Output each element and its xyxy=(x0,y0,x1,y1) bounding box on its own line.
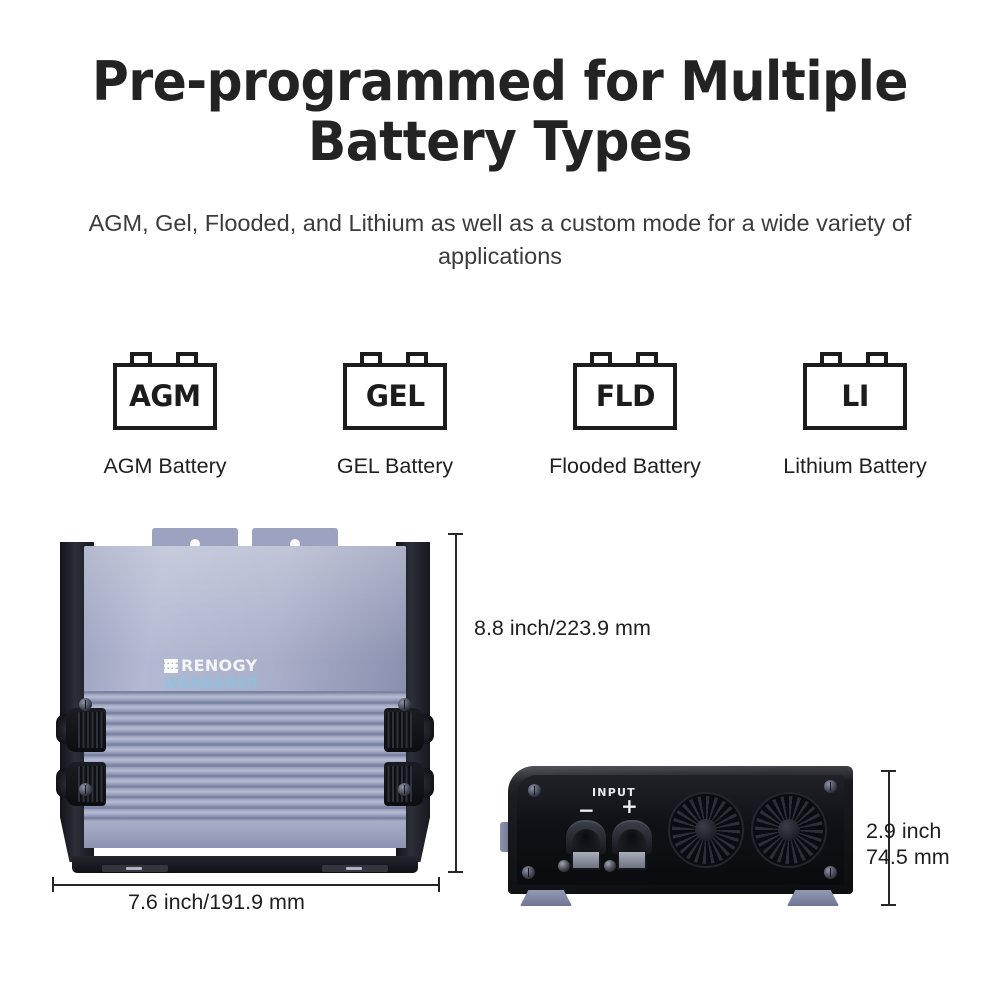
page-title: Pre-programmed for Multiple Battery Type… xyxy=(91,52,909,172)
screw-icon xyxy=(824,780,837,793)
terminal-pad xyxy=(571,850,601,870)
width-dimension-cap-left xyxy=(52,877,54,892)
width-dimension-cap-right xyxy=(438,877,440,892)
cable-gland-upper-left xyxy=(66,708,106,752)
battery-gel-icon: GEL xyxy=(343,352,447,430)
battery-type-label: GEL Battery xyxy=(337,454,453,479)
battery-type-list: AGM AGM Battery GEL GEL Battery FLD xyxy=(70,352,950,479)
battery-agm-icon: AGM xyxy=(113,352,217,430)
cable-gland-upper-right xyxy=(384,708,424,752)
product-side-view: INPUT − + xyxy=(500,766,855,906)
page-subtitle: AGM, Gel, Flooded, and Lithium as well a… xyxy=(60,207,940,274)
heatsink-fins xyxy=(84,691,406,821)
fan-hub-icon xyxy=(695,819,717,841)
negative-terminal-label: − xyxy=(578,800,595,820)
battery-icon-text: FLD xyxy=(595,382,654,411)
terminal-pad xyxy=(617,850,647,870)
faceplate-highlight xyxy=(84,546,406,661)
height-dimension-label: 8.8 inch/223.9 mm xyxy=(474,615,651,641)
negative-terminal xyxy=(566,820,606,874)
battery-type-label: Flooded Battery xyxy=(549,454,701,479)
fan-hub-icon xyxy=(778,819,800,841)
screw-icon xyxy=(79,698,92,711)
battery-li-icon: LI xyxy=(803,352,907,430)
height-dimension-cap-top xyxy=(448,533,463,535)
infographic-page: Pre-programmed for Multiple Battery Type… xyxy=(0,0,1000,1000)
positive-terminal xyxy=(612,820,652,874)
battery-type-label: Lithium Battery xyxy=(783,454,926,479)
screw-icon xyxy=(522,866,535,879)
terminal-shroud xyxy=(612,820,652,854)
screw-icon xyxy=(398,698,411,711)
side-view-foot-right xyxy=(787,890,839,906)
depth-dimension-mm: 74.5 mm xyxy=(866,844,950,870)
width-dimension-line xyxy=(52,884,440,886)
product-base xyxy=(72,856,418,873)
depth-dimension-label: 2.9 inch 74.5 mm xyxy=(866,818,950,870)
product-front-view: RENOGY WANDERER 10A SOLAR CHARGE CONTROL… xyxy=(56,528,434,873)
side-view-shell: INPUT − + xyxy=(508,766,853,894)
battery-icon-text: GEL xyxy=(366,382,425,411)
width-dimension-label: 7.6 inch/191.9 mm xyxy=(128,889,305,915)
cooling-fan-vent-left xyxy=(668,792,744,868)
battery-fld-icon: FLD xyxy=(573,352,677,430)
positive-terminal-label: + xyxy=(621,796,638,816)
terminal-lug-screw-icon xyxy=(604,860,616,872)
battery-icon-text: AGM xyxy=(129,382,200,411)
screw-icon xyxy=(398,783,411,796)
renogy-logo-icon xyxy=(164,659,178,673)
depth-dimension-cap-bottom xyxy=(881,904,896,906)
battery-type-item-agm: AGM AGM Battery xyxy=(70,352,260,479)
product-foot-left xyxy=(102,865,168,872)
side-view-foot-left xyxy=(520,890,572,906)
terminal-shroud xyxy=(566,820,606,854)
battery-icon-text: LI xyxy=(841,382,868,411)
depth-dimension-cap-top xyxy=(881,770,896,772)
screw-icon xyxy=(79,783,92,796)
product-foot-right xyxy=(322,865,388,872)
battery-type-item-gel: GEL GEL Battery xyxy=(300,352,490,479)
height-dimension-cap-bottom xyxy=(448,871,463,873)
battery-type-item-flooded: FLD Flooded Battery xyxy=(530,352,720,479)
brand-name: RENOGY xyxy=(181,658,257,674)
faceplate-bottom-lip xyxy=(84,821,406,848)
cooling-fan-vent-right xyxy=(751,792,827,868)
battery-type-item-lithium: LI Lithium Battery xyxy=(760,352,950,479)
screw-icon xyxy=(528,784,541,797)
terminal-lug-screw-icon xyxy=(558,860,570,872)
depth-dimension-inch: 2.9 inch xyxy=(866,818,950,844)
height-dimension-line xyxy=(455,533,457,873)
product-faceplate: RENOGY WANDERER 10A SOLAR CHARGE CONTROL… xyxy=(84,546,406,848)
screw-icon xyxy=(824,866,837,879)
battery-type-label: AGM Battery xyxy=(103,454,226,479)
